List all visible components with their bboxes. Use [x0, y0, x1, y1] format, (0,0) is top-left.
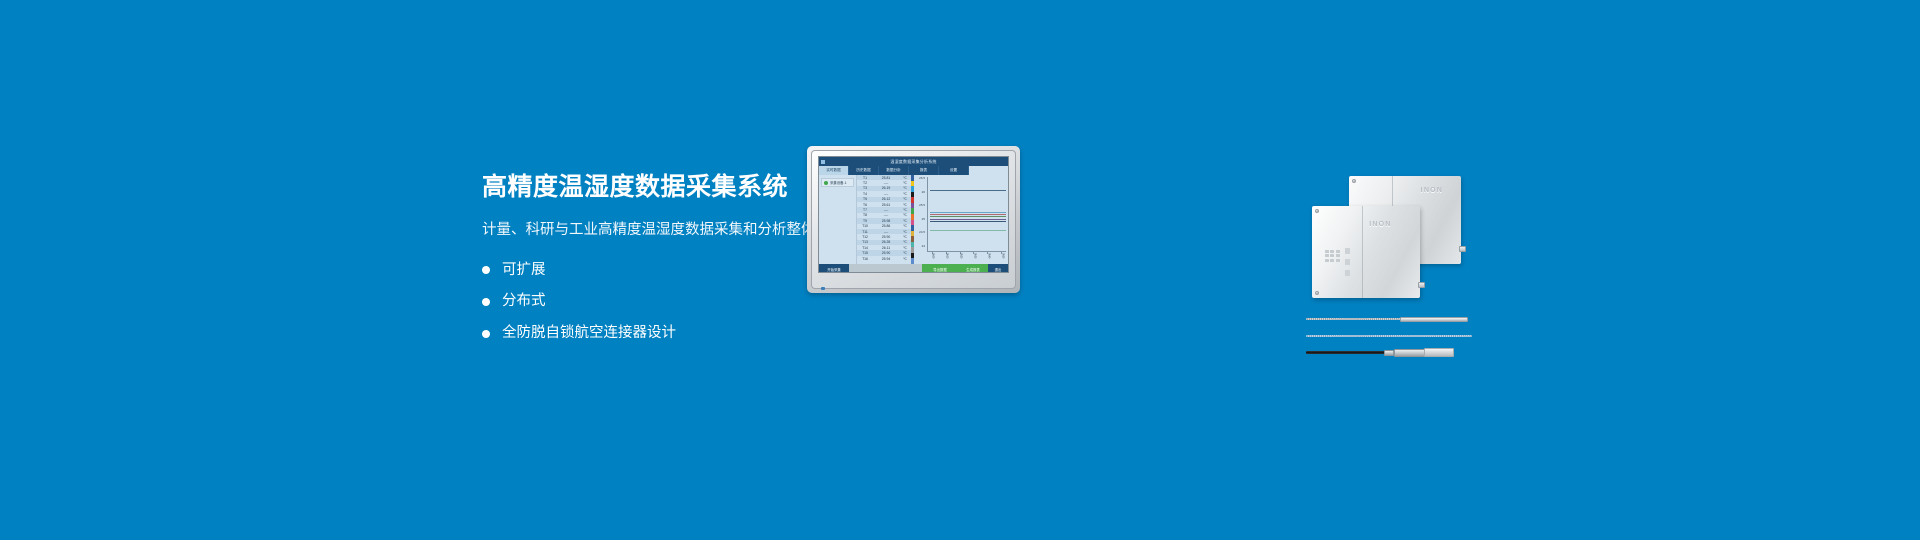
- probe-body: [1394, 349, 1426, 357]
- channel-cell: T3: [857, 186, 873, 190]
- value-cell: 25.94: [873, 257, 899, 261]
- probe-tip: [1400, 317, 1468, 322]
- chart-trend-line: [930, 230, 1006, 231]
- table-row[interactable]: T326.19℃: [857, 186, 911, 191]
- value-cell: 25.61: [873, 203, 899, 207]
- terminal-cell: [1330, 259, 1334, 262]
- tab-settings[interactable]: 设置: [939, 166, 969, 175]
- y-axis-tick-label: 26.5: [919, 176, 925, 180]
- chart-trend-line: [930, 190, 1006, 191]
- terminal-cell: [1325, 259, 1329, 262]
- table-row[interactable]: T1025.86℃: [857, 224, 911, 229]
- unit-cell: ℃: [899, 213, 911, 217]
- unit-cell: ℃: [899, 257, 911, 261]
- table-row[interactable]: T8----℃: [857, 213, 911, 218]
- unit-cell: ℃: [899, 181, 911, 185]
- unit-cell: ℃: [899, 224, 911, 228]
- channel-cell: T16: [857, 257, 873, 261]
- chart-x-axis: 09:0009:1009:2009:3009:4009:50: [927, 252, 1006, 264]
- value-cell: 26.12: [873, 197, 899, 201]
- aviation-connector-icon: [1459, 246, 1466, 252]
- table-row[interactable]: T4----℃: [857, 191, 911, 196]
- probe-sensor-filter: [1424, 348, 1454, 357]
- channel-cell: T15: [857, 251, 873, 255]
- port-label-slot: [1345, 248, 1350, 254]
- screw-icon: [1315, 291, 1319, 295]
- tree-node-label: 采集设备-1: [830, 180, 847, 185]
- power-led-icon: [821, 287, 825, 290]
- list-item: 分布式: [482, 292, 1002, 311]
- value-cell: 25.86: [873, 224, 899, 228]
- brand-logo: INON: [1421, 187, 1443, 194]
- unit-cell: ℃: [899, 240, 911, 244]
- terminal-cell: [1336, 254, 1340, 257]
- product-banner: 高精度温湿度数据采集系统 计量、科研与工业高精度温湿度数据采集和分析整体解决方案…: [0, 0, 1920, 540]
- monitor-screen: 温湿度数据采集分析系统 实时数据 历史数据 数据分析 报表 设置: [818, 156, 1009, 273]
- brand-logo: INON: [1369, 221, 1391, 228]
- screw-icon: [1352, 179, 1356, 183]
- chart-trend-line: [930, 219, 1006, 220]
- x-axis-tick-label: 09:10: [946, 253, 949, 258]
- status-dot-icon: [824, 181, 828, 185]
- export-data-button[interactable]: 导出数据: [922, 264, 958, 273]
- chart-y-axis: 26.52625.52524.524: [914, 175, 926, 252]
- app-titlebar: 温湿度数据采集分析系统: [819, 157, 1008, 166]
- terminal-cell: [1330, 250, 1334, 253]
- tab-realtime[interactable]: 实时数据: [819, 166, 849, 175]
- tab-report[interactable]: 报表: [909, 166, 939, 175]
- unit-cell: ℃: [899, 192, 911, 196]
- panel-pc-monitor: 温湿度数据采集分析系统 实时数据 历史数据 数据分析 报表 设置: [807, 146, 1020, 293]
- list-item: 全防脱自锁航空连接器设计: [482, 324, 1002, 343]
- unit-cell: ℃: [899, 230, 911, 234]
- channel-cell: T12: [857, 235, 873, 239]
- channel-cell: T1: [857, 176, 873, 180]
- trend-chart[interactable]: 26.52625.52524.524 09:0009:1009:2009:300…: [914, 175, 1008, 264]
- x-axis-tick-label: 09:40: [987, 253, 990, 258]
- unit-cell: ℃: [899, 246, 911, 250]
- status-bar-spacer: [849, 264, 922, 273]
- y-axis-tick-label: 26: [922, 190, 925, 194]
- probe-ferrule: [1384, 350, 1394, 356]
- bullet-dot-icon: [482, 330, 490, 338]
- value-cell: 26.28: [873, 240, 899, 244]
- x-axis-tick-label: 09:00: [932, 253, 935, 258]
- chart-plot-area: [927, 177, 1006, 252]
- table-row[interactable]: T2----℃: [857, 180, 911, 185]
- value-cell: ----: [873, 192, 899, 196]
- aviation-connector-icon: [1418, 282, 1425, 288]
- channel-cell: T4: [857, 192, 873, 196]
- value-cell: ----: [873, 181, 899, 185]
- tab-strip-filler: [969, 166, 1008, 175]
- unit-cell: ℃: [899, 186, 911, 190]
- y-axis-tick-label: 25.5: [919, 203, 925, 207]
- table-row[interactable]: T925.98℃: [857, 218, 911, 223]
- probe-cable: [1306, 335, 1472, 337]
- feature-label: 分布式: [502, 292, 546, 311]
- value-cell: 25.90: [873, 251, 899, 255]
- app-title: 温湿度数据采集分析系统: [819, 158, 1008, 165]
- generate-report-button[interactable]: 生成报表: [958, 264, 988, 273]
- port-label-slot: [1345, 259, 1350, 265]
- enclosure-seam: [1362, 206, 1363, 298]
- value-cell: 26.11: [873, 246, 899, 250]
- channel-cell: T11: [857, 230, 873, 234]
- unit-cell: ℃: [899, 235, 911, 239]
- channel-cell: T14: [857, 246, 873, 250]
- bullet-dot-icon: [482, 266, 490, 274]
- value-cell: 25.98: [873, 219, 899, 223]
- start-acquisition-button[interactable]: 开始采集: [819, 264, 849, 273]
- monitor-bezel: 温湿度数据采集分析系统 实时数据 历史数据 数据分析 报表 设置: [807, 146, 1020, 293]
- channel-cell: T13: [857, 240, 873, 244]
- terminal-cell: [1336, 250, 1340, 253]
- sensor-probe-group: [1306, 312, 1496, 370]
- table-row[interactable]: T1326.28℃: [857, 240, 911, 245]
- x-axis-tick-label: 09:20: [960, 253, 963, 258]
- value-cell: ----: [873, 208, 899, 212]
- feature-label: 可扩展: [502, 261, 546, 280]
- channel-cell: T8: [857, 213, 873, 217]
- x-axis-tick-label: 09:30: [973, 253, 976, 258]
- x-axis-tick-label: 09:50: [1001, 253, 1004, 258]
- monitor-chin: [807, 281, 1020, 293]
- table-row[interactable]: T625.61℃: [857, 202, 911, 207]
- value-cell: 25.81: [873, 176, 899, 180]
- unit-cell: ℃: [899, 203, 911, 207]
- chart-trend-line: [930, 214, 1006, 215]
- terminal-cell: [1336, 259, 1340, 262]
- table-row[interactable]: T1225.90℃: [857, 234, 911, 239]
- channel-cell: T9: [857, 219, 873, 223]
- value-cell: ----: [873, 213, 899, 217]
- terminal-block-grid: [1325, 250, 1340, 262]
- screw-icon: [1315, 209, 1319, 213]
- tab-analysis[interactable]: 数据分析: [879, 166, 909, 175]
- table-row[interactable]: T526.12℃: [857, 197, 911, 202]
- probe-cable: [1306, 351, 1388, 354]
- terminal-cell: [1330, 254, 1334, 257]
- channel-cell: T5: [857, 197, 873, 201]
- channel-cell: T6: [857, 203, 873, 207]
- table-row[interactable]: T1525.90℃: [857, 250, 911, 255]
- y-axis-tick-label: 24: [922, 244, 925, 248]
- value-cell: ----: [873, 230, 899, 234]
- probe-cable: [1306, 318, 1402, 320]
- port-label-slot: [1345, 270, 1350, 276]
- table-row[interactable]: T7----℃: [857, 207, 911, 212]
- data-acquisition-module-front: INON: [1312, 206, 1420, 298]
- tab-history[interactable]: 历史数据: [849, 166, 879, 175]
- device-tree-panel: 采集设备-1: [819, 175, 857, 264]
- unit-cell: ℃: [899, 208, 911, 212]
- terminal-cell: [1325, 250, 1329, 253]
- y-axis-tick-label: 25: [922, 217, 925, 221]
- tree-node-device[interactable]: 采集设备-1: [821, 178, 854, 187]
- unit-cell: ℃: [899, 251, 911, 255]
- table-row[interactable]: T11----℃: [857, 229, 911, 234]
- unit-cell: ℃: [899, 197, 911, 201]
- unit-cell: ℃: [899, 176, 911, 180]
- y-axis-tick-label: 24.5: [919, 230, 925, 234]
- chart-trend-line: [930, 216, 1006, 217]
- channel-cell: T2: [857, 181, 873, 185]
- app-status-bar: 开始采集 导出数据 生成报表 退出: [819, 264, 1008, 273]
- feature-label: 全防脱自锁航空连接器设计: [502, 324, 676, 343]
- table-row[interactable]: T1426.11℃: [857, 245, 911, 250]
- table-row[interactable]: T1625.94℃: [857, 256, 911, 261]
- value-cell: 25.90: [873, 235, 899, 239]
- table-row[interactable]: T125.81℃: [857, 175, 911, 180]
- value-cell: 26.19: [873, 186, 899, 190]
- chart-trend-line: [930, 212, 1006, 213]
- app-tab-strip: 实时数据 历史数据 数据分析 报表 设置: [819, 166, 1008, 175]
- chart-trend-line: [930, 221, 1006, 222]
- unit-cell: ℃: [899, 219, 911, 223]
- exit-button[interactable]: 退出: [988, 264, 1008, 273]
- terminal-cell: [1325, 254, 1329, 257]
- bullet-dot-icon: [482, 298, 490, 306]
- app-body: 采集设备-1 T125.81℃T2----℃T326.19℃T4----℃T52…: [819, 175, 1008, 264]
- channel-cell: T10: [857, 224, 873, 228]
- channel-data-table[interactable]: T125.81℃T2----℃T326.19℃T4----℃T526.12℃T6…: [857, 175, 911, 264]
- channel-cell: T7: [857, 208, 873, 212]
